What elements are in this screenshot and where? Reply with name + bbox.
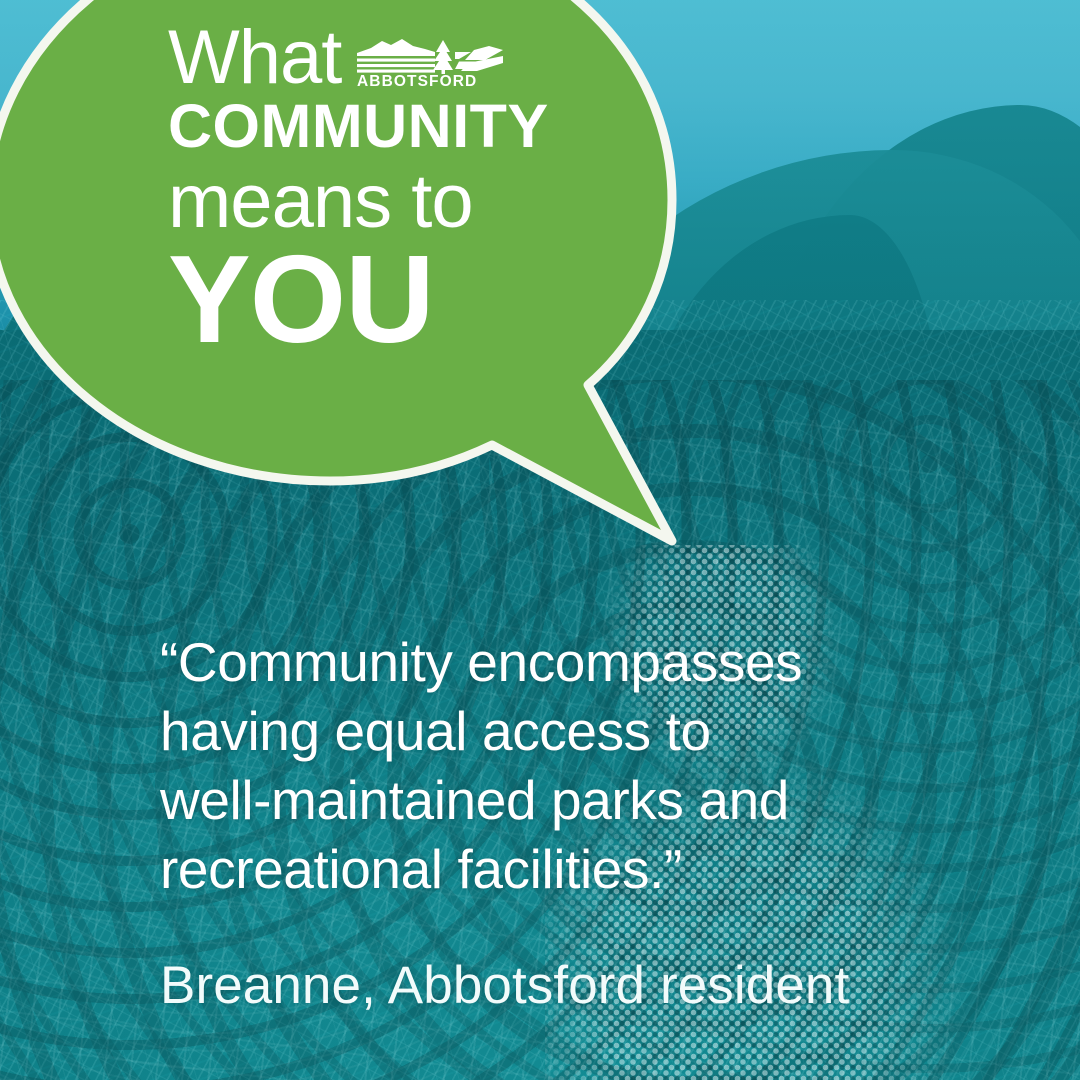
bubble-text-group: What: [168, 20, 568, 362]
speech-bubble: What: [0, 0, 720, 575]
quote-attribution: Breanne, Abbotsford resident: [160, 955, 849, 1016]
bubble-line-what-row: What: [168, 20, 568, 96]
poster-canvas: What: [0, 0, 1080, 1080]
quote-line: recreational facilities.”: [160, 835, 960, 904]
bubble-line-community: COMMUNITY: [168, 94, 568, 160]
bubble-line-you: YOU: [168, 238, 568, 362]
quote-line: well-maintained parks and: [160, 766, 960, 835]
abbotsford-logo-icon: ABBOTSFORD: [355, 36, 505, 88]
bubble-line-what: What: [168, 20, 341, 96]
abbotsford-wordmark: ABBOTSFORD: [357, 73, 477, 88]
quote-line: “Community encompasses: [160, 628, 960, 697]
abbotsford-logo: ABBOTSFORD: [355, 36, 505, 88]
quote-line: having equal access to: [160, 697, 960, 766]
quote-text: “Community encompasses having equal acce…: [160, 628, 960, 904]
bubble-line-means-to: means to: [168, 162, 568, 243]
